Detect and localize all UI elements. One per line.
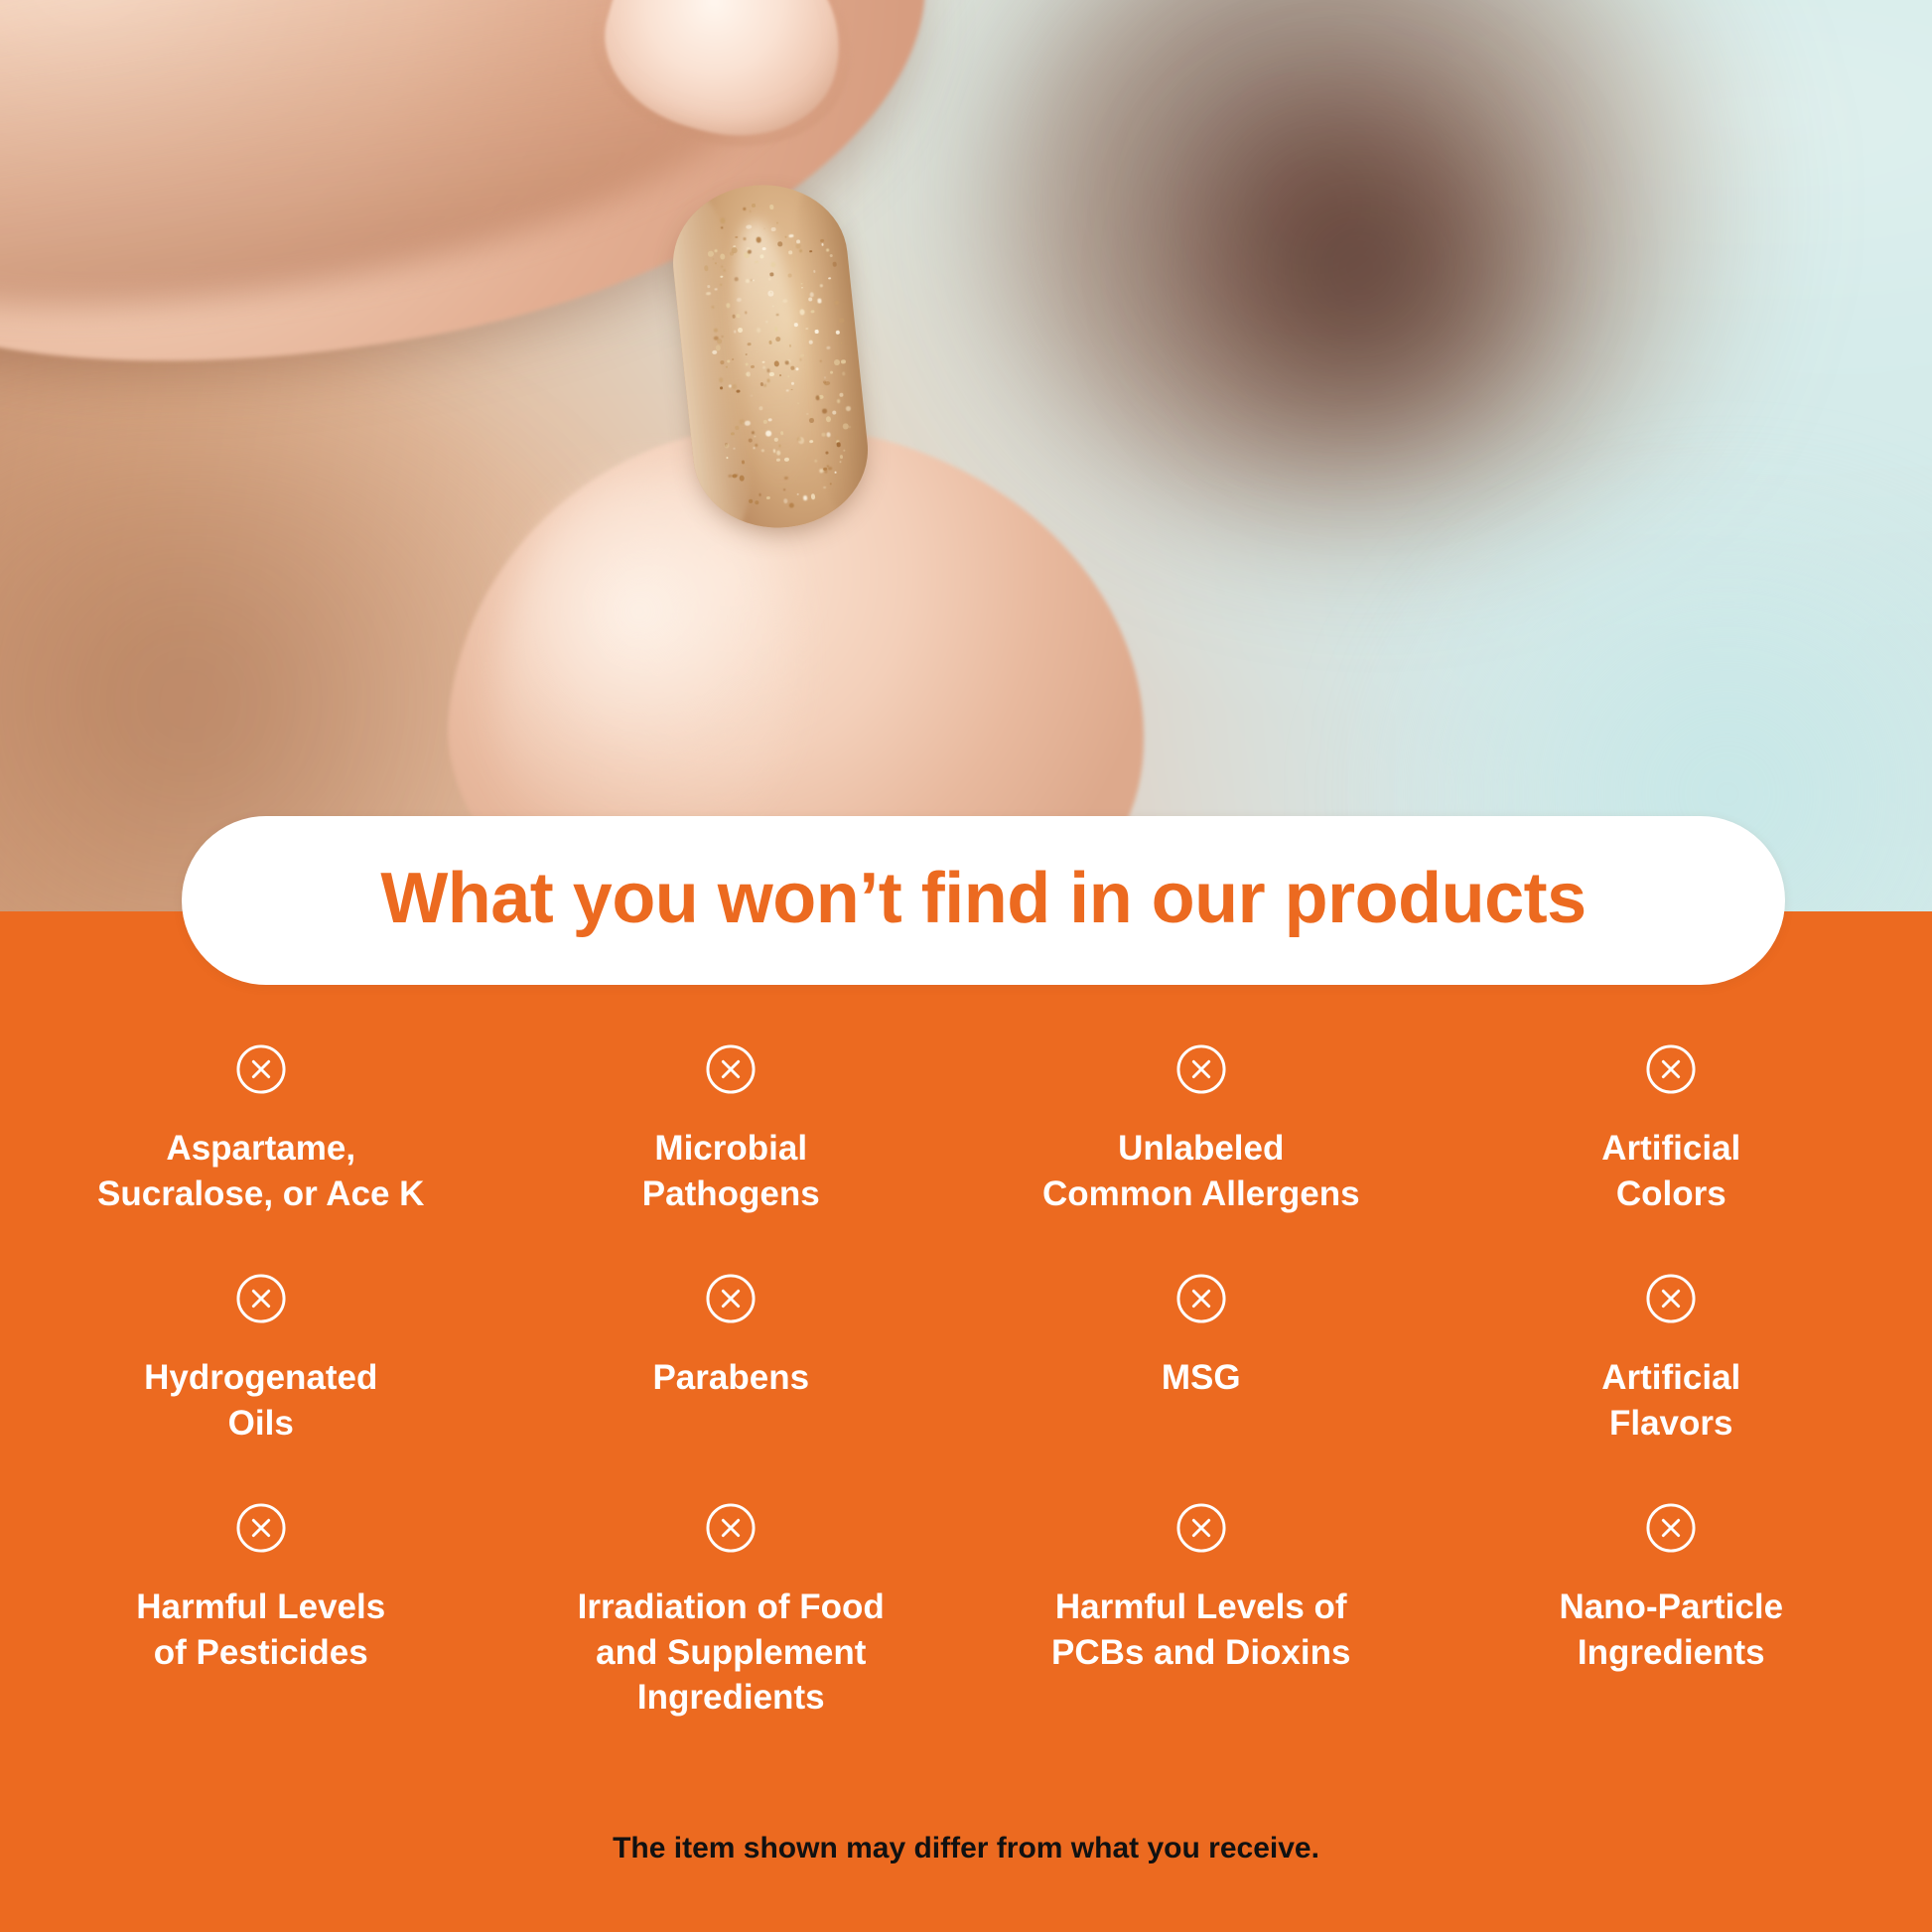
excluded-ingredient-label: Harmful Levels of Pesticides (136, 1585, 385, 1675)
excluded-ingredient-label: Artificial Colors (1601, 1126, 1740, 1216)
circle-x-icon (704, 1042, 758, 1096)
circle-x-icon (1174, 1042, 1228, 1096)
circle-x-icon (704, 1501, 758, 1555)
excluded-ingredient-item: Harmful Levels of PCBs and Dioxins (966, 1501, 1437, 1721)
supplement-tablet (665, 177, 875, 537)
excluded-ingredient-item: Aspartame, Sucralose, or Ace K (26, 1042, 496, 1216)
circle-x-icon (1174, 1501, 1228, 1555)
excluded-ingredient-item: Irradiation of Food and Supplement Ingre… (496, 1501, 967, 1721)
excluded-ingredient-item: Microbial Pathogens (496, 1042, 967, 1216)
circle-x-icon (1644, 1042, 1698, 1096)
title-banner: What you won’t find in our products (182, 816, 1785, 985)
circle-x-icon (1644, 1272, 1698, 1325)
page-title: What you won’t find in our products (380, 863, 1586, 938)
excluded-ingredient-label: Unlabeled Common Allergens (1042, 1126, 1360, 1216)
excluded-ingredient-label: Artificial Flavors (1601, 1355, 1740, 1446)
excluded-ingredient-label: Nano-Particle Ingredients (1559, 1585, 1783, 1675)
excluded-ingredient-label: Harmful Levels of PCBs and Dioxins (1051, 1585, 1350, 1675)
page-title-part2: find in our products (901, 859, 1586, 938)
product-infographic: What you won’t find in our products Aspa… (0, 0, 1932, 1932)
tablet-body (665, 177, 875, 537)
excluded-ingredient-item: Artificial Flavors (1437, 1272, 1907, 1446)
circle-x-icon (234, 1272, 288, 1325)
circle-x-icon (1644, 1501, 1698, 1555)
excluded-ingredient-label: Irradiation of Food and Supplement Ingre… (578, 1585, 885, 1721)
circle-x-icon (704, 1272, 758, 1325)
excluded-ingredient-item: Nano-Particle Ingredients (1437, 1501, 1907, 1721)
circle-x-icon (234, 1501, 288, 1555)
excluded-ingredient-item: Harmful Levels of Pesticides (26, 1501, 496, 1721)
page-title-emphasis: won’t (718, 859, 901, 938)
page-title-part1: What you (380, 859, 717, 938)
circle-x-icon (1174, 1272, 1228, 1325)
excluded-ingredient-label: Hydrogenated Oils (144, 1355, 377, 1446)
excluded-ingredient-label: MSG (1162, 1355, 1241, 1401)
excluded-ingredients-grid: Aspartame, Sucralose, or Ace KMicrobial … (0, 1042, 1932, 1721)
excluded-ingredient-label: Microbial Pathogens (642, 1126, 820, 1216)
excluded-ingredient-item: Unlabeled Common Allergens (966, 1042, 1437, 1216)
excluded-ingredient-item: Parabens (496, 1272, 967, 1446)
excluded-ingredient-item: Hydrogenated Oils (26, 1272, 496, 1446)
circle-x-icon (234, 1042, 288, 1096)
disclaimer-text: The item shown may differ from what you … (0, 1832, 1932, 1865)
hero-photo (0, 0, 1932, 911)
excluded-ingredient-label: Parabens (652, 1355, 809, 1401)
excluded-ingredient-item: MSG (966, 1272, 1437, 1446)
excluded-ingredient-label: Aspartame, Sucralose, or Ace K (97, 1126, 424, 1216)
photo-bokeh-shape (1152, 79, 1569, 457)
excluded-ingredient-item: Artificial Colors (1437, 1042, 1907, 1216)
